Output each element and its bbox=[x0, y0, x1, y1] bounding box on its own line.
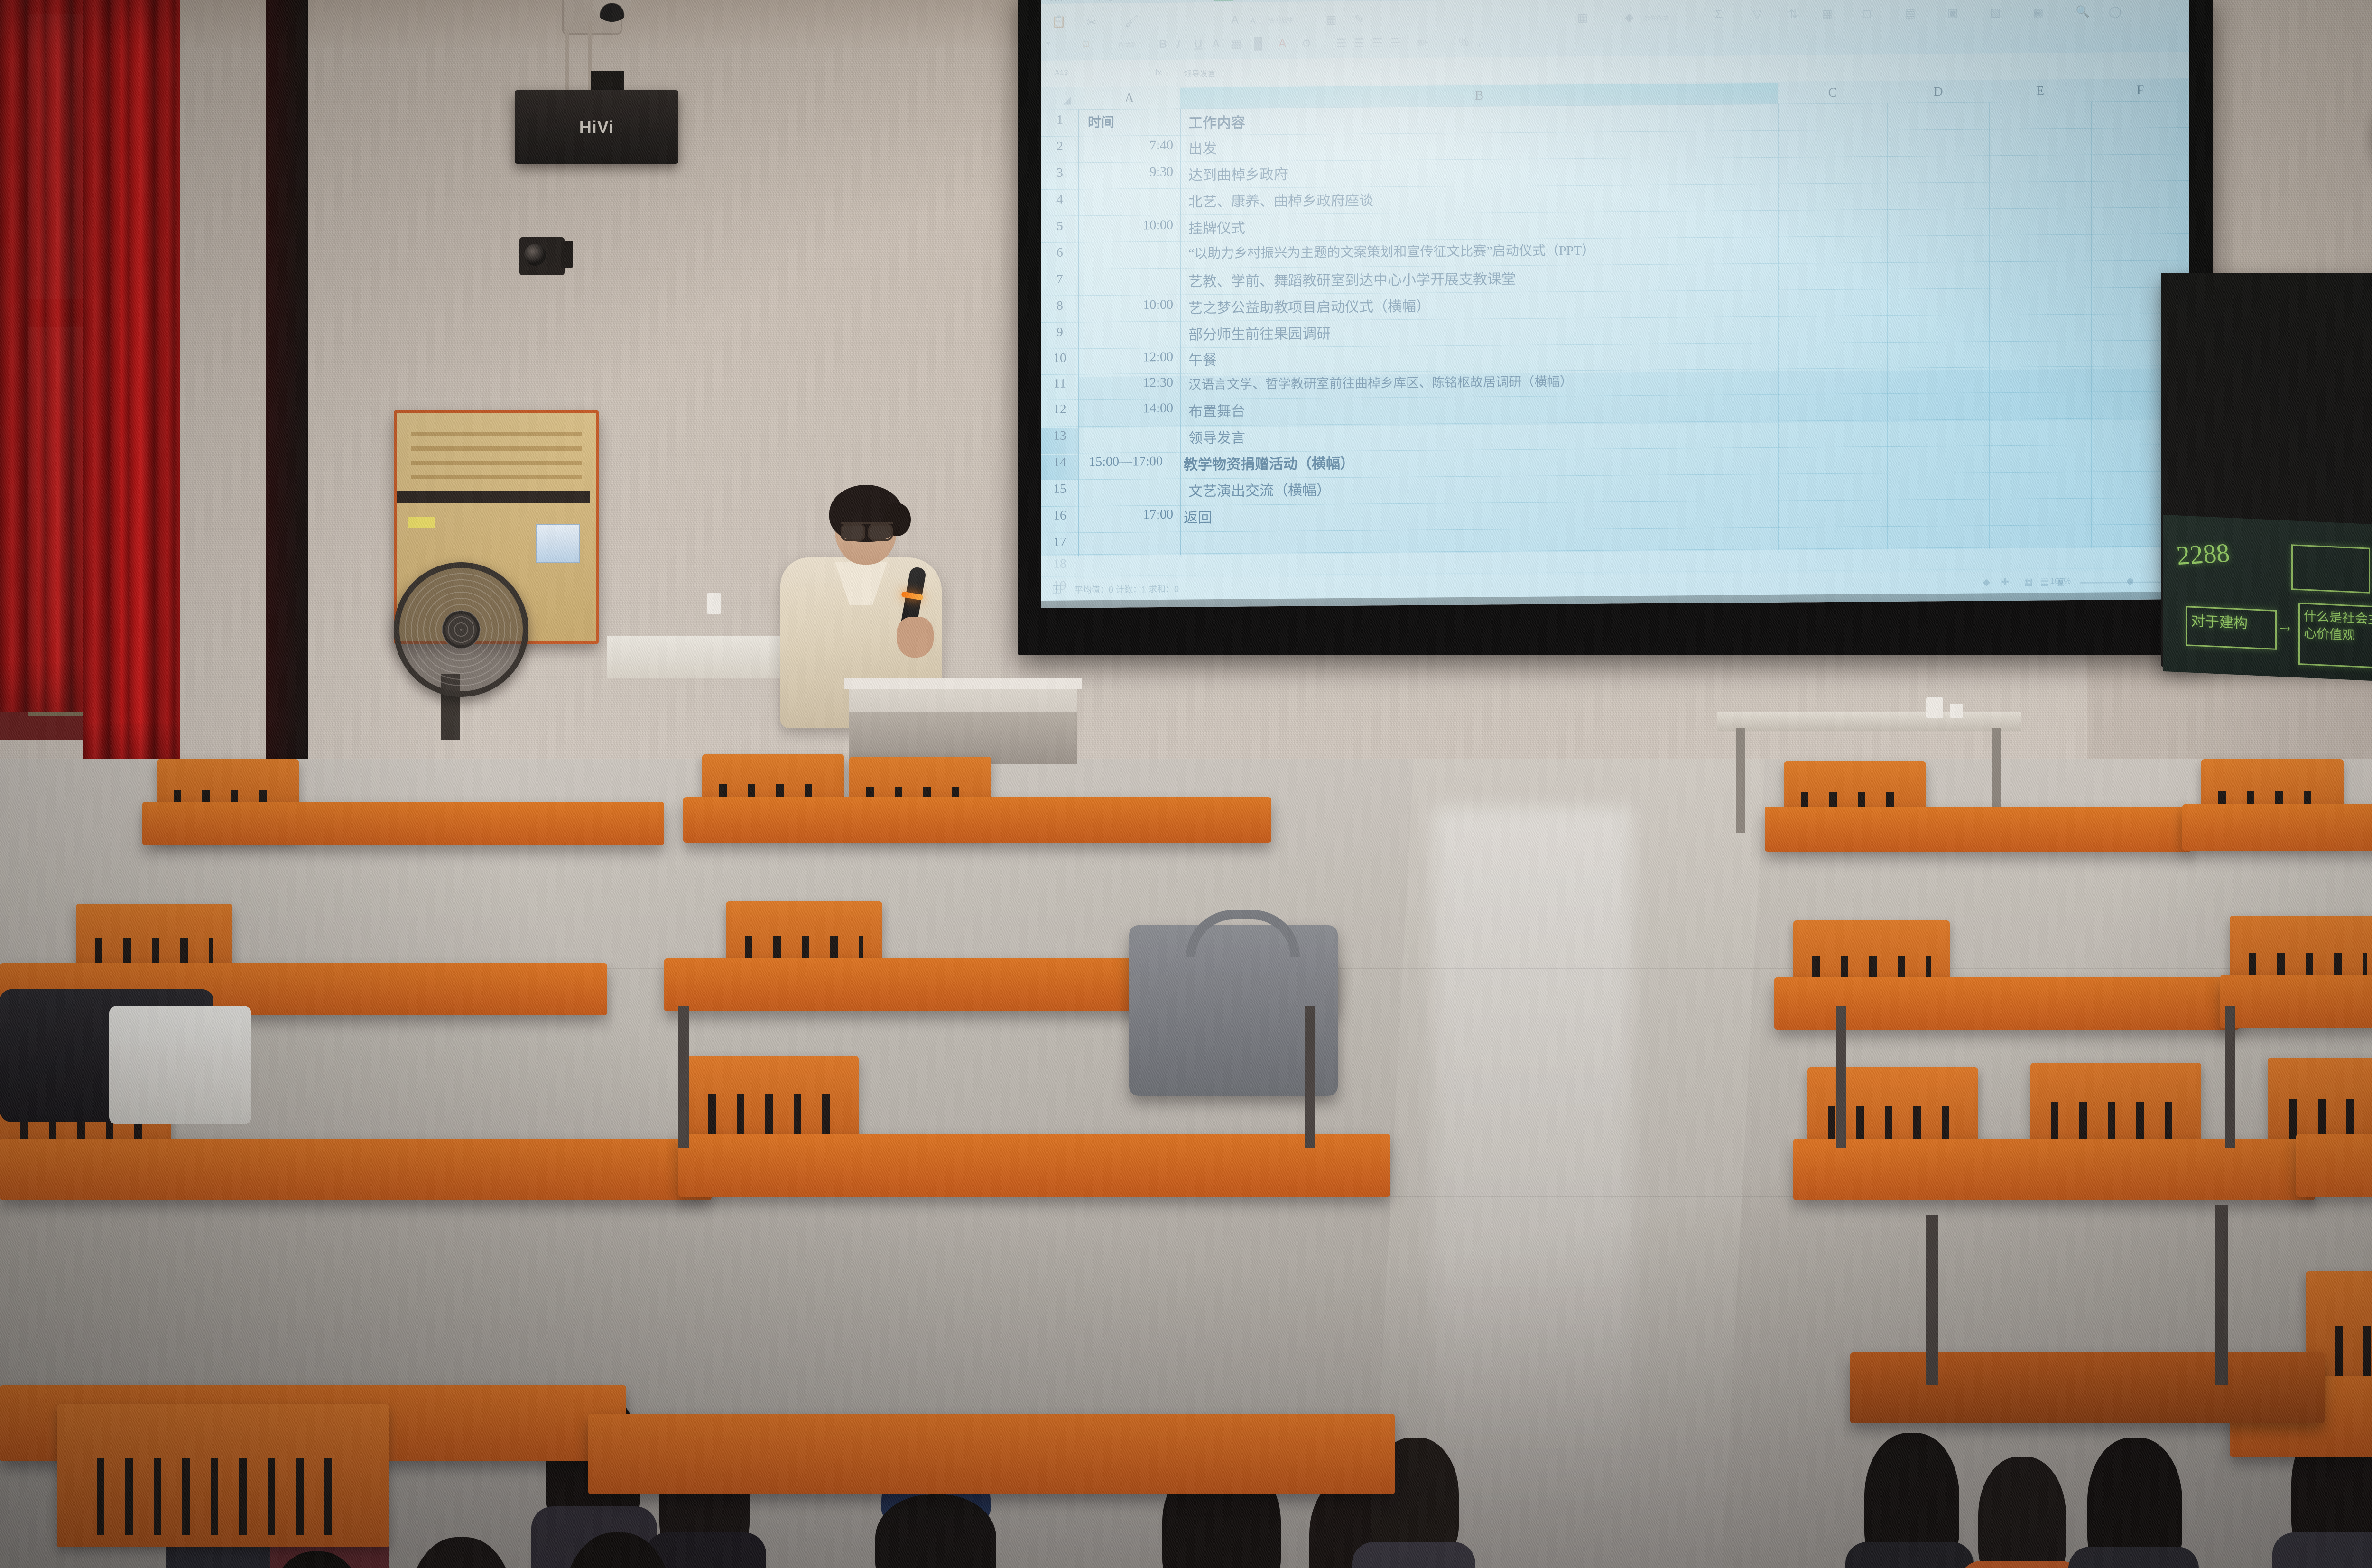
underline-icon[interactable]: U bbox=[1194, 37, 1202, 51]
formula-value[interactable]: 领导发言 bbox=[1184, 67, 1216, 79]
desk-leg-5 bbox=[678, 1006, 689, 1148]
curtain-middle bbox=[83, 0, 180, 764]
cut-icon[interactable]: ✂ bbox=[1087, 16, 1096, 29]
curtain-left bbox=[0, 0, 83, 712]
cell-b7[interactable]: 艺教、学前、舞蹈教研室到达中心小学开展支教课堂 bbox=[1188, 267, 1516, 290]
insert-row-icon[interactable]: ◻ bbox=[1862, 7, 1872, 20]
wrap-text-icon[interactable]: ✎ bbox=[1354, 13, 1364, 27]
sort-icon[interactable]: ⇅ bbox=[1788, 7, 1798, 21]
justify-icon[interactable]: ☰ bbox=[1390, 36, 1401, 50]
cell-b15[interactable]: 文艺演出交流（横幅） bbox=[1188, 478, 1331, 500]
row-header-5[interactable]: 5 bbox=[1041, 218, 1078, 233]
autosum-icon[interactable]: Σ bbox=[1715, 8, 1722, 21]
podium-front bbox=[849, 712, 1077, 764]
conditional-format-label[interactable]: 条件格式 bbox=[1644, 13, 1668, 22]
fx-icon[interactable]: fx bbox=[1155, 67, 1162, 77]
zoom-level-label[interactable]: 100% bbox=[2050, 576, 2071, 586]
row-header-1[interactable]: 1 bbox=[1041, 112, 1078, 127]
cell-a3[interactable]: 9:30 bbox=[1088, 165, 1173, 180]
cell-a11[interactable]: 12:30 bbox=[1088, 375, 1173, 391]
cell-a4[interactable] bbox=[1088, 191, 1173, 192]
cell-b4[interactable]: 北艺、康养、曲棹乡政府座谈 bbox=[1188, 189, 1373, 211]
rows-cols-icon[interactable]: ▩ bbox=[2033, 5, 2044, 19]
row-header-10[interactable]: 10 bbox=[1041, 350, 1078, 365]
row-header-8[interactable]: 8 bbox=[1041, 298, 1078, 313]
cabinet-handle-strip bbox=[397, 491, 590, 503]
row-header-13[interactable]: 13 bbox=[1041, 428, 1078, 453]
row-header-6[interactable]: 6 bbox=[1041, 245, 1078, 260]
row-header-4[interactable]: 4 bbox=[1041, 192, 1078, 207]
bold-icon[interactable]: B bbox=[1159, 38, 1167, 51]
cell-a2[interactable]: 7:40 bbox=[1088, 138, 1173, 154]
column-header-e[interactable]: E bbox=[1989, 81, 2091, 102]
desk-leg-6 bbox=[1305, 1006, 1315, 1148]
format-painter-icon[interactable]: 🖌 bbox=[1124, 14, 1139, 28]
zoom-in-icon[interactable]: ✚ bbox=[2001, 576, 2009, 588]
cell-b6[interactable]: “以助力乡村振兴为主题的文案策划和宣传征文比赛”启动仪式（PPT） bbox=[1188, 240, 1595, 262]
curtain-shadow bbox=[266, 0, 308, 778]
cell-b5[interactable]: 挂牌仪式 bbox=[1188, 216, 1245, 238]
desk-leg-4 bbox=[2225, 1006, 2235, 1148]
wall-camera-icon bbox=[519, 237, 565, 275]
cup-a bbox=[1926, 697, 1943, 718]
desk-leg-1 bbox=[1926, 1215, 1938, 1385]
row-header-3[interactable]: 3 bbox=[1041, 165, 1078, 180]
row-header-15[interactable]: 15 bbox=[1041, 481, 1078, 496]
cell-b9[interactable]: 部分师生前往果园调研 bbox=[1188, 322, 1331, 343]
cell-b12[interactable]: 布置舞台 bbox=[1188, 399, 1245, 421]
select-all-corner[interactable] bbox=[1041, 88, 1078, 110]
column-header-f[interactable]: F bbox=[2091, 80, 2189, 102]
cell-b1[interactable]: 工作内容 bbox=[1188, 111, 1245, 132]
floor-reflection bbox=[1433, 807, 1632, 1518]
desk-r-mid2 bbox=[2220, 975, 2372, 1028]
desk-r-far2 bbox=[2182, 804, 2372, 851]
desk-r-fg bbox=[1793, 1139, 2315, 1200]
column-header-d[interactable]: D bbox=[1887, 81, 1989, 103]
cell-b13[interactable]: 领导发言 bbox=[1188, 426, 1245, 447]
row-header-9[interactable]: 9 bbox=[1041, 325, 1078, 340]
align-center-icon[interactable]: ☰ bbox=[1354, 37, 1365, 50]
status-mode-icon: ◫ bbox=[1052, 583, 1062, 595]
row-header-12[interactable]: 12 bbox=[1041, 401, 1078, 417]
indent-label[interactable]: 缩进 bbox=[1416, 38, 1428, 47]
spreadsheet-grid[interactable]: A B C D E F 1 bbox=[1041, 80, 2189, 556]
name-box[interactable]: A13 bbox=[1055, 69, 1068, 78]
italic-icon[interactable]: I bbox=[1177, 38, 1180, 51]
cell-a6[interactable] bbox=[1088, 244, 1173, 245]
row-header-14[interactable]: 14 bbox=[1041, 455, 1078, 480]
cell-a8[interactable]: 10:00 bbox=[1088, 297, 1173, 313]
font-size-increase-icon[interactable]: A bbox=[1231, 14, 1239, 27]
font-color-icon[interactable]: A bbox=[1212, 37, 1220, 51]
desk-r-far bbox=[1765, 807, 2192, 852]
ribbon-accent-left bbox=[1214, 0, 1233, 1]
ribbon-tab-4[interactable]: 公式 bbox=[1350, 0, 1364, 1]
white-bag bbox=[109, 1006, 251, 1124]
column-header-c[interactable]: C bbox=[1778, 82, 1887, 104]
blackboard-number: 2288 bbox=[2175, 538, 2231, 572]
cell-a9[interactable] bbox=[1088, 324, 1173, 325]
desk-r-fg2 bbox=[2296, 1134, 2372, 1197]
cell-a14[interactable]: 15:00—17:00 bbox=[1078, 454, 1173, 470]
cell-a7[interactable] bbox=[1088, 271, 1173, 271]
format-label[interactable]: 格式刷 bbox=[1118, 40, 1137, 49]
spreadsheet-app: 文件 开始 插入 页面布局 公式 数据 审阅 视图 开发工具 会员专享 WPS … bbox=[1041, 0, 2189, 608]
desk-fg1 bbox=[0, 1139, 712, 1200]
cell-a10[interactable]: 12:00 bbox=[1088, 350, 1173, 365]
column-header-a[interactable]: A bbox=[1078, 88, 1180, 110]
align-grid-icon[interactable]: ▦ bbox=[1326, 13, 1337, 27]
align-right-icon[interactable]: ☰ bbox=[1372, 36, 1383, 50]
chalk-box-1 bbox=[2291, 544, 2370, 594]
cell-a5[interactable]: 10:00 bbox=[1088, 218, 1173, 233]
desk-r-fg4 bbox=[1850, 1352, 2325, 1423]
cell-a15[interactable] bbox=[1088, 481, 1173, 481]
front-table-leg-left bbox=[1736, 728, 1745, 833]
chair-fg3 bbox=[57, 1404, 389, 1547]
row-header-16[interactable]: 16 bbox=[1041, 508, 1078, 523]
comma-style-icon[interactable]: , bbox=[1478, 36, 1481, 49]
desk-l-far2 bbox=[683, 797, 1271, 843]
cabinet-tag bbox=[408, 517, 435, 528]
text-highlight-icon[interactable]: A bbox=[1279, 37, 1286, 50]
percent-icon[interactable]: % bbox=[1459, 36, 1469, 49]
table-style-icon[interactable]: ▦ bbox=[1577, 11, 1588, 25]
desk-fg2 bbox=[678, 1134, 1390, 1197]
desk-fg4 bbox=[588, 1414, 1395, 1494]
font-settings-icon[interactable]: ⚙ bbox=[1301, 37, 1312, 51]
ribbon-toolbar[interactable]: 📋 ▾ ✂ 🖌 📋 格式刷 B I U A ▦ █ A ⚙ A A 合并居中 ▦… bbox=[1041, 0, 2189, 61]
borders-icon[interactable]: ▦ bbox=[1231, 37, 1242, 51]
paste-dropdown-icon[interactable]: ▾ bbox=[1047, 40, 1050, 47]
cell-b14[interactable]: 教学物资捐赠活动（横幅） bbox=[1184, 452, 1354, 474]
cup-b bbox=[1950, 704, 1963, 718]
cell-b11[interactable]: 汉语言文学、哲学教研室前往曲棹乡库区、陈铭枢故居调研（横幅） bbox=[1188, 371, 1573, 392]
chalk-arrow-icon: → bbox=[2277, 617, 2293, 636]
ribbon-tab-0[interactable]: 文件 bbox=[1050, 0, 1064, 3]
ribbon-tab-3[interactable]: 页面布局 bbox=[1288, 0, 1316, 1]
water-bottle bbox=[707, 593, 721, 614]
projector-screen: 文件 开始 插入 页面布局 公式 数据 审阅 视图 开发工具 会员专享 WPS … bbox=[1041, 0, 2189, 608]
format-table-icon[interactable]: ▦ bbox=[1822, 7, 1833, 21]
cell-b10[interactable]: 午餐 bbox=[1188, 348, 1217, 369]
fill-color-icon[interactable]: █ bbox=[1254, 37, 1262, 50]
delete-cells-icon[interactable]: ▣ bbox=[1947, 6, 1958, 20]
cell-a12[interactable]: 14:00 bbox=[1088, 401, 1173, 417]
presenter-hand bbox=[897, 617, 934, 658]
zoom-slider-knob[interactable] bbox=[2127, 578, 2133, 585]
align-left-icon[interactable]: ☰ bbox=[1336, 37, 1347, 50]
cabinet-label bbox=[536, 524, 580, 563]
row-header-2[interactable]: 2 bbox=[1041, 139, 1078, 154]
blackboard-note-3: 什么是社会主义核心价值观 bbox=[2304, 607, 2372, 647]
search-icon[interactable]: 🔍 bbox=[2075, 5, 2090, 19]
zoom-out-icon[interactable]: ◆ bbox=[1983, 576, 1990, 588]
font-size-decrease-icon[interactable]: A bbox=[1250, 16, 1256, 26]
ribbon-tab-1[interactable]: 开始 bbox=[1098, 0, 1112, 3]
speaker-brand-label: HiVi bbox=[579, 117, 614, 137]
pedestal-fan-icon bbox=[394, 562, 528, 697]
blackboard: 2288 人本? ✓ 对于建构 → 什么是社会主义核心价值观 2. 特点? bbox=[2163, 515, 2372, 692]
freeze-panes-icon[interactable]: ▧ bbox=[1990, 6, 2001, 19]
presenter-glasses-icon bbox=[841, 522, 893, 538]
filter-icon[interactable]: ▽ bbox=[1753, 8, 1761, 21]
cell-b2[interactable]: 出发 bbox=[1188, 137, 1217, 158]
insert-col-icon[interactable]: ▤ bbox=[1905, 7, 1916, 20]
cell-b8[interactable]: 艺之梦公益助教项目启动仪式（横幅） bbox=[1188, 295, 1430, 317]
status-summary-text: 平均值：0 计数：1 求和：0 bbox=[1075, 583, 1179, 596]
desk-leg-2 bbox=[2215, 1205, 2228, 1385]
classroom-photo: HiVi HiVi 12 3 6 9 文件 开始 插入 页面布局 bbox=[0, 0, 2372, 1568]
copy-icon[interactable]: 📋 bbox=[1082, 40, 1090, 48]
grid-view-icon[interactable]: ▦ bbox=[2024, 576, 2033, 588]
speaker-left: HiVi bbox=[515, 90, 678, 164]
row-header-7[interactable]: 7 bbox=[1041, 271, 1078, 287]
paste-icon[interactable]: 📋 bbox=[1052, 15, 1066, 29]
help-icon[interactable]: ◯ bbox=[2109, 5, 2122, 19]
ribbon-tab-2[interactable]: 插入 bbox=[1245, 0, 1260, 2]
cell-a1[interactable]: 时间 bbox=[1088, 111, 1173, 131]
desk-l-far bbox=[142, 802, 664, 845]
blackboard-note-2: 对于建构 bbox=[2191, 609, 2248, 632]
desk-leg-3 bbox=[1836, 1006, 1846, 1148]
podium-top bbox=[844, 678, 1082, 689]
front-table-right bbox=[1717, 712, 2021, 731]
cell-a16[interactable]: 17:00 bbox=[1088, 507, 1173, 523]
row-header-17[interactable]: 17 bbox=[1041, 534, 1078, 549]
cell-b16[interactable]: 返回 bbox=[1184, 506, 1212, 527]
merge-cells-label[interactable]: 合并居中 bbox=[1269, 15, 1294, 24]
conditional-format-icon[interactable]: ◆ bbox=[1625, 10, 1633, 24]
page-layout-icon[interactable]: ▤ bbox=[2040, 575, 2049, 587]
row-header-11[interactable]: 11 bbox=[1041, 376, 1078, 391]
cell-b3[interactable]: 达到曲棹乡政府 bbox=[1188, 163, 1288, 185]
